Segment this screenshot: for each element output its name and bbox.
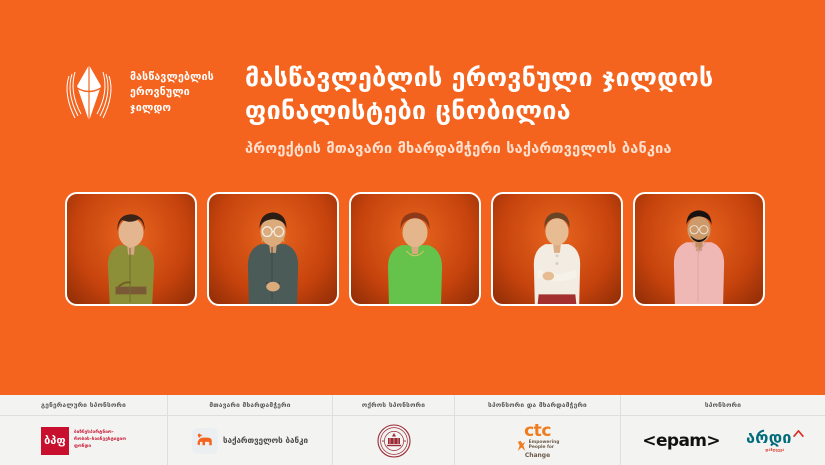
- ctc-wordmark: ctc: [524, 423, 551, 440]
- finalist-portrait-2: [207, 192, 339, 306]
- brand-name: მასწავლებლის ეროვნული ჯილდო: [130, 70, 214, 116]
- sponsor-label-row: გენერალური სპონსორი მთავარი მხარდამჭერი …: [0, 395, 825, 416]
- ctc-tagline-last: Change: [525, 452, 550, 459]
- ardi-subtext: დაზღვევა: [765, 448, 784, 452]
- sponsor-logo-bpf[interactable]: ბპფ ბიზნესპარტნიო- რობის-საინვესტიციო ფო…: [0, 416, 168, 465]
- sponsor-logo-row: ბპფ ბიზნესპარტნიო- რობის-საინვესტიციო ფო…: [0, 416, 825, 465]
- ctc-figure-icon: [516, 439, 527, 452]
- award-diamond-logo-icon: [60, 62, 118, 124]
- sponsor-label-gold: ოქროს სპონსორი: [333, 395, 455, 415]
- headline-block: მასწავლებლის ეროვნული ჯილდოს ფინალისტები…: [245, 62, 785, 157]
- bpf-mark-icon: ბპფ: [41, 427, 69, 455]
- announcement-banner: მასწავლებლის ეროვნული ჯილდო მასწავლებლის…: [0, 0, 825, 392]
- sponsor-label-sponsor: სპონსორი: [621, 395, 825, 415]
- epam-wordmark[interactable]: <epam>: [642, 431, 720, 451]
- finalist-portrait-1: [65, 192, 197, 306]
- ctc-tagline: Empowering People for: [529, 440, 560, 451]
- sponsor-label-general: გენერალური სპონსორი: [0, 395, 168, 415]
- headline-line-1: მასწავლებლის ეროვნული ჯილდოს: [245, 62, 785, 95]
- finalist-portrait-3: [349, 192, 481, 306]
- finalist-portrait-4: [491, 192, 623, 306]
- sponsor-logo-university[interactable]: [333, 416, 455, 465]
- sponsor-label-sponsor-supporter: სპონსორი და მხარდამჭერი: [455, 395, 621, 415]
- sponsor-logo-ardi[interactable]: არდი დაზღვევა: [746, 430, 804, 452]
- finalist-portrait-5: [633, 192, 765, 306]
- bpf-name: ბიზნესპარტნიო- რობის-საინვესტიციო ფონდი: [74, 430, 126, 451]
- bank-of-georgia-name: საქართველოს ბანკი: [223, 436, 308, 445]
- sponsor-logo-bank-of-georgia[interactable]: საქართველოს ბანკი: [168, 416, 333, 465]
- sponsor-label-main-supporter: მთავარი მხარდამჭერი: [168, 395, 333, 415]
- headline-line-2: ფინალისტები ცნობილია: [245, 95, 785, 128]
- sponsor-logo-group-epam-ardi: <epam> არდი დაზღვევა: [621, 416, 825, 465]
- headline-subtitle: პროექტის მთავარი მხარდამჭერი საქართველოს…: [245, 141, 785, 157]
- ardi-chevron-icon: [793, 430, 804, 437]
- sponsor-footer: გენერალური სპონსორი მთავარი მხარდამჭერი …: [0, 392, 825, 465]
- ardi-wordmark: არდი: [746, 430, 792, 446]
- finalist-portrait-row: [65, 192, 765, 306]
- lion-logo-icon: [192, 428, 218, 454]
- sponsor-logo-ctc[interactable]: ctc Empowering People for Change: [455, 416, 621, 465]
- university-seal-icon: [377, 424, 411, 458]
- brand-lockup: მასწავლებლის ეროვნული ჯილდო: [60, 62, 214, 124]
